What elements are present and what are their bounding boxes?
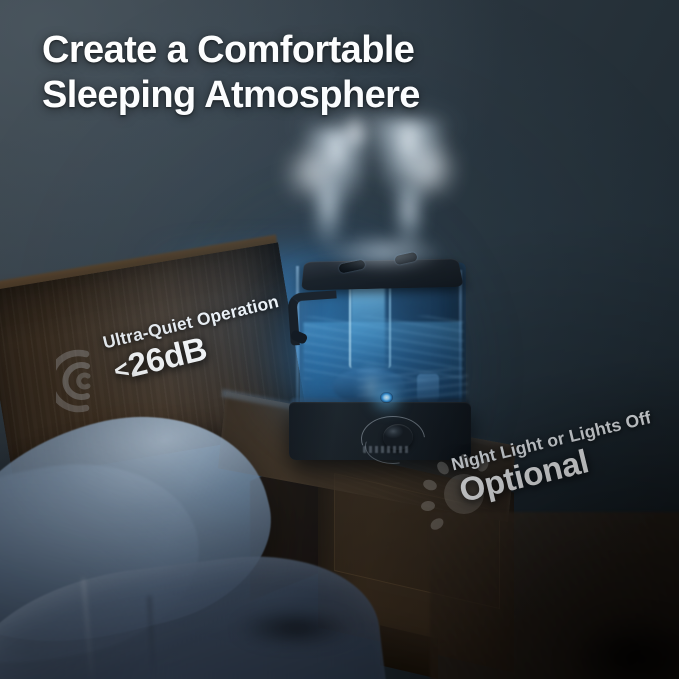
floor-shadow: [470, 560, 679, 679]
mist-puff-right: [398, 136, 460, 202]
tank-right-edge-highlight: [459, 270, 462, 412]
headline-line-2: Sleeping Atmosphere: [42, 73, 622, 118]
headline-line-1: Create a Comfortable: [42, 29, 414, 71]
mist-wisp-center: [340, 112, 370, 152]
product-marketing-image: Ultra-Quiet Operation <26dB Night Light …: [0, 0, 679, 679]
brand-wordmark: [363, 446, 409, 453]
mist-base-spread: [324, 232, 444, 272]
page-title: Create a Comfortable Sleeping Atmosphere: [42, 28, 622, 118]
mist-puff-left: [282, 142, 342, 204]
humidifier-device[interactable]: [287, 248, 473, 460]
blue-indicator-light: [380, 392, 393, 403]
bed-shadow: [236, 612, 436, 679]
